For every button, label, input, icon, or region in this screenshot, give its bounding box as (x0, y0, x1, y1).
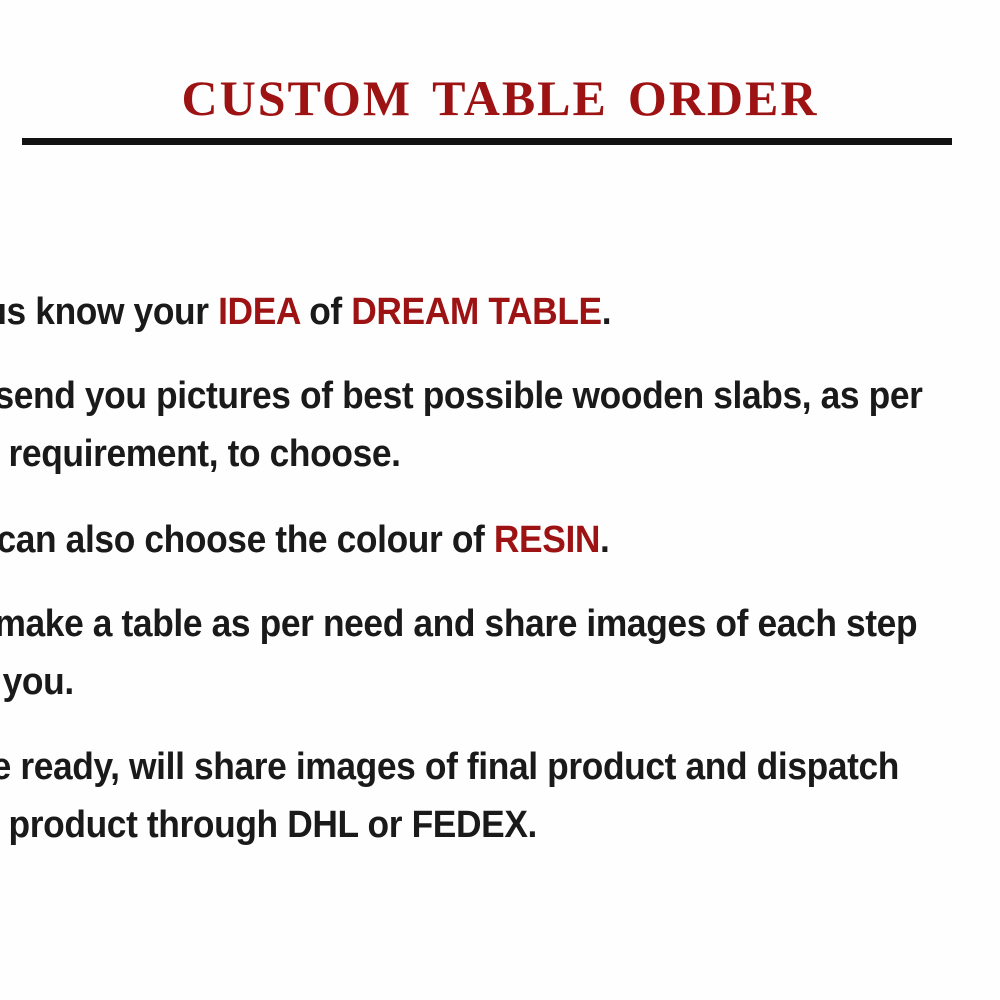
bullet-4-line-2: with you. (0, 653, 956, 711)
bullet-3-text-pre: You can also choose the colour of (0, 519, 494, 561)
bullet-1-line-1: Let us know your IDEA of DREAM TABLE. (0, 283, 956, 341)
slide-canvas: Custom Table Order Let us know your IDEA… (0, 0, 1000, 1000)
bullet-1-highlight-idea: IDEA (218, 291, 300, 333)
bullet-paragraph-2: Will send you pictures of best possible … (0, 367, 956, 483)
bullet-1-text-pre: Let us know your (0, 291, 218, 333)
bullet-3-text-post: . (600, 519, 609, 561)
title-underline-rule (22, 138, 952, 145)
bullet-paragraph-3: You can also choose the colour of RESIN. (0, 511, 956, 569)
bullet-5-line-2: your product through DHL or FEDEX. (0, 796, 956, 854)
bullet-1-text-mid: of (300, 291, 352, 333)
bullet-3-highlight-resin: RESIN (494, 519, 600, 561)
bullet-2-line-2: your requirement, to choose. (0, 425, 956, 483)
bullet-1-highlight-dream-table: DREAM TABLE (351, 291, 601, 333)
bullet-4-line-1: Will make a table as per need and share … (0, 595, 956, 653)
bullet-paragraph-4: Will make a table as per need and share … (0, 595, 956, 711)
title-block: Custom Table Order (0, 52, 1000, 148)
body-copy: Let us know your IDEA of DREAM TABLE. Wi… (0, 255, 1000, 875)
page-title: Custom Table Order (0, 52, 1000, 130)
bullet-5-line-1: Once ready, will share images of final p… (0, 738, 956, 796)
bullet-2-line-1: Will send you pictures of best possible … (0, 367, 956, 425)
bullet-1-text-post: . (602, 291, 611, 333)
bullet-paragraph-5: Once ready, will share images of final p… (0, 738, 956, 854)
bullet-3-line-1: You can also choose the colour of RESIN. (0, 511, 956, 569)
bullet-paragraph-1: Let us know your IDEA of DREAM TABLE. (0, 283, 956, 341)
